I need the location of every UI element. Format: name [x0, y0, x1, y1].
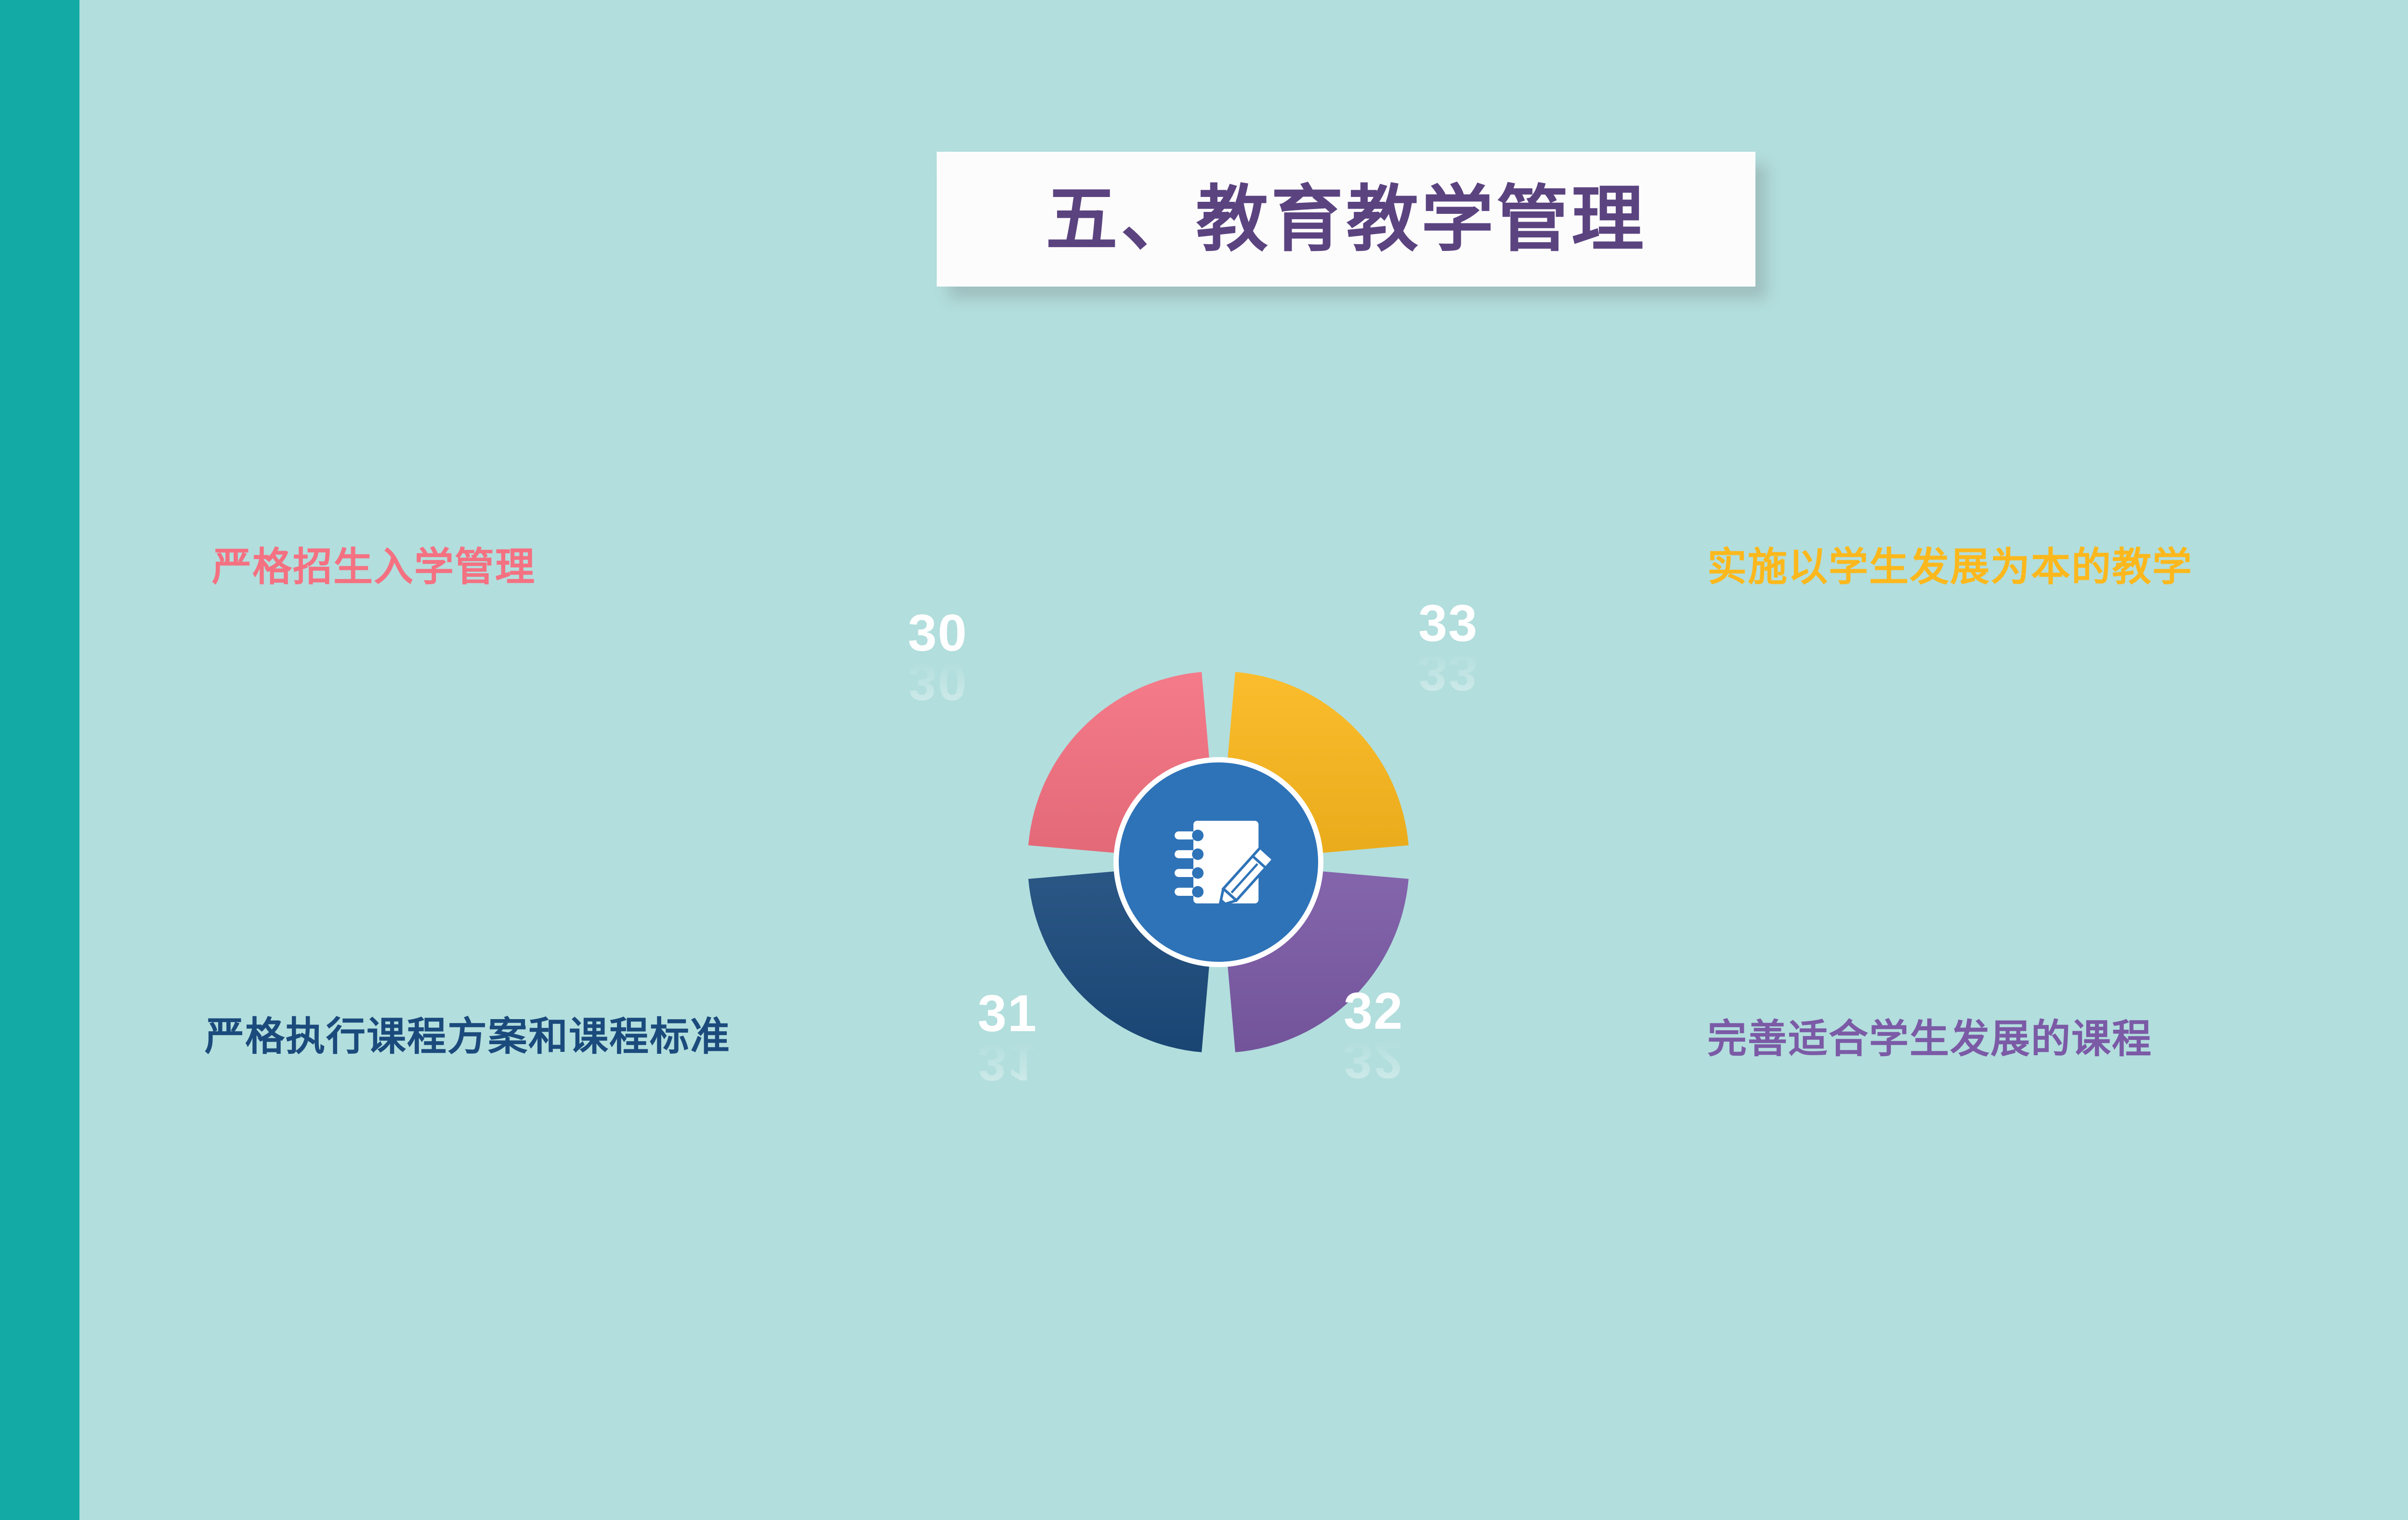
notebook-pencil-icon — [1156, 799, 1281, 925]
caption-top-left: 严格招生入学管理 — [212, 542, 814, 593]
caption-top-right: 实施以学生发展为本的教学 — [1707, 542, 2372, 593]
donut-number-32-reflection: 32 — [1344, 1034, 1403, 1086]
left-accent-bar — [0, 0, 79, 1520]
donut-number-33-value: 33 — [1418, 597, 1478, 649]
caption-bottom-left: 严格执行课程方案和课程标准 — [205, 1011, 807, 1063]
slide-canvas: 五、教育教学管理 — [0, 0, 2408, 1520]
donut-number-33: 33 33 — [1418, 597, 1478, 698]
donut-number-32-value: 32 — [1344, 985, 1403, 1037]
donut-number-33-reflection: 33 — [1418, 646, 1478, 698]
donut-number-32: 32 32 — [1344, 985, 1403, 1086]
page-title: 五、教育教学管理 — [1046, 183, 1647, 255]
caption-bottom-right: 完善适合学生发展的课程 — [1707, 1014, 2372, 1065]
donut-number-30-reflection: 30 — [908, 656, 968, 708]
donut-number-31: 31 31 — [978, 987, 1037, 1088]
center-badge — [1113, 757, 1323, 967]
donut-number-31-value: 31 — [978, 987, 1037, 1039]
donut-number-31-reflection: 31 — [978, 1036, 1037, 1088]
donut-number-30: 30 30 — [908, 607, 968, 708]
slide-title-box: 五、教育教学管理 — [937, 152, 1755, 287]
donut-number-30-value: 30 — [908, 607, 968, 659]
